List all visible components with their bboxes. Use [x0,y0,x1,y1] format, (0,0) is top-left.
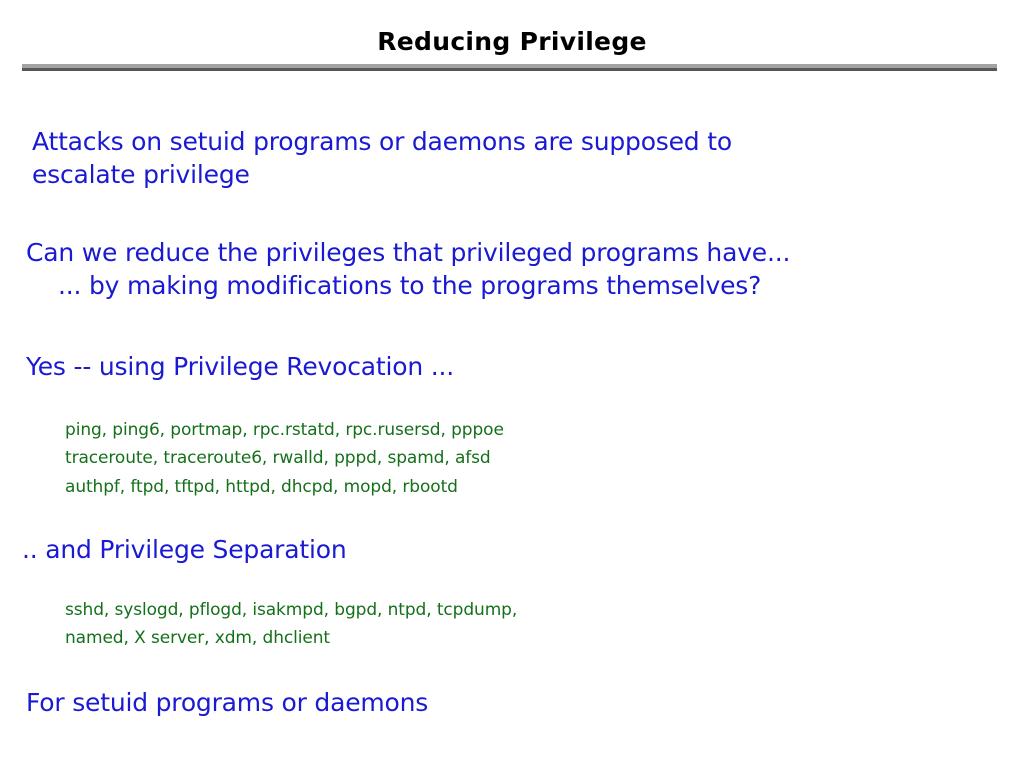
privilege-revocation-heading: Yes -- using Privilege Revocation ... [26,351,454,383]
revocation-program-list-line-1: ping, ping6, portmap, rpc.rstatd, rpc.ru… [65,420,504,440]
attacks-paragraph-line-2: escalate privilege [32,159,250,191]
closing-statement: For setuid programs or daemons [26,687,428,719]
separation-program-list-line-1: sshd, syslogd, pflogd, isakmpd, bgpd, nt… [65,600,517,620]
attacks-paragraph-line-1: Attacks on setuid programs or daemons ar… [32,126,732,158]
revocation-program-list-line-2: traceroute, traceroute6, rwalld, pppd, s… [65,448,491,468]
reduce-question-line-2: ... by making modifications to the progr… [58,270,761,302]
privilege-separation-heading: .. and Privilege Separation [22,534,346,566]
presentation-slide: Reducing Privilege Attacks on setuid pro… [0,0,1024,768]
separation-program-list-line-2: named, X server, xdm, dhclient [65,628,330,648]
reduce-question-line-1: Can we reduce the privileges that privil… [26,237,790,269]
revocation-program-list-line-3: authpf, ftpd, tftpd, httpd, dhcpd, mopd,… [65,477,458,497]
slide-body: Attacks on setuid programs or daemons ar… [0,0,1024,768]
